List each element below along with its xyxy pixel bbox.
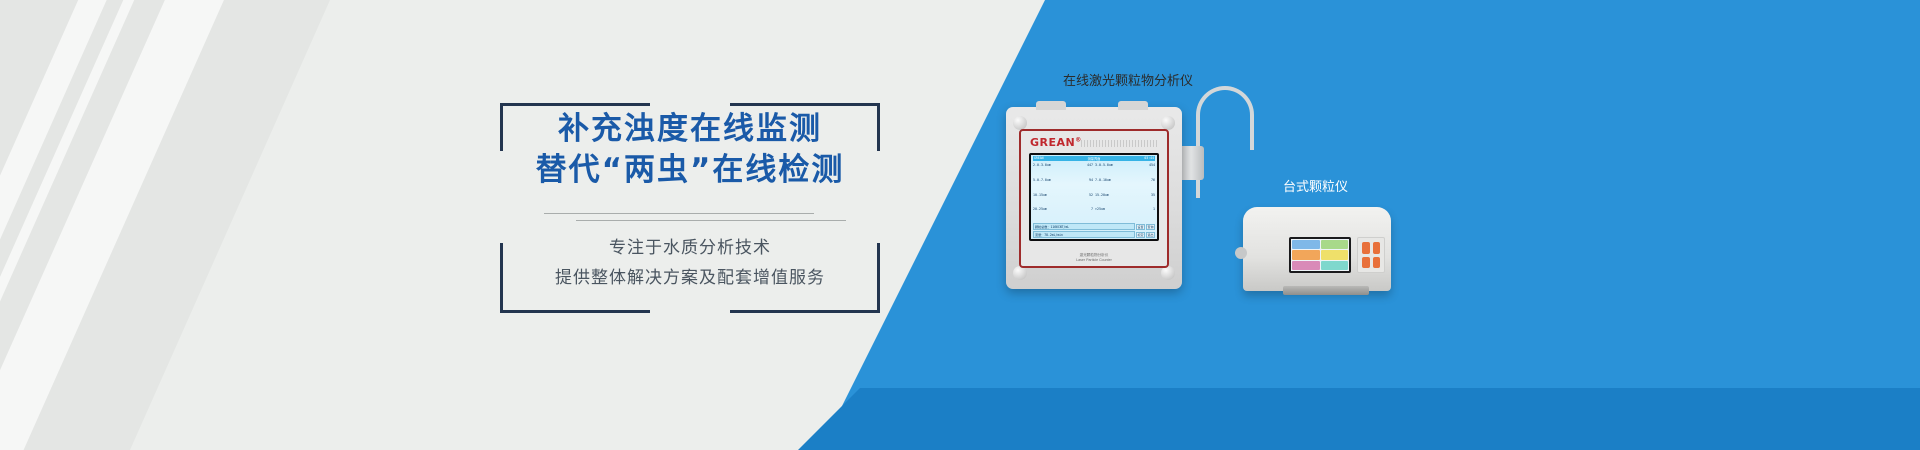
desktop-keypad[interactable] <box>1357 237 1385 273</box>
lcd-status-row-1: 颗粒总数：1166CNT/mL 设置 查询 <box>1033 223 1155 230</box>
table-row: >25um1 <box>1095 207 1155 222</box>
frame-corner-top-left-h <box>500 103 650 106</box>
lcd-status-row-2: 流量：78.2mL/min 标定 退出 <box>1033 231 1155 238</box>
desktop-sample-tray <box>1283 286 1369 295</box>
desktop-unit-body <box>1243 207 1391 291</box>
size-count: 7 <box>1091 207 1093 222</box>
headline-line-1: 补充浊度在线监测 <box>500 109 880 149</box>
benchtop-particle-counter <box>1243 207 1391 291</box>
frame-corner-top-right-h <box>730 103 880 106</box>
size-range: 15-20um <box>1095 193 1109 208</box>
size-range: 7.0-10um <box>1095 178 1111 193</box>
subtitle-line-1: 专注于水质分析技术 <box>500 233 880 263</box>
frame-corner-bottom-right-h <box>730 310 880 313</box>
analyzer-screw-top-right <box>1161 116 1175 130</box>
table-row: 5.0-7.0um94 <box>1033 178 1093 193</box>
hero-subtitle: 专注于水质分析技术 提供整体解决方案及配套增值服务 <box>500 233 880 293</box>
analyzer-screw-top-left <box>1013 116 1027 130</box>
analyzer-footer-text: 激光颗粒物分析仪 Laser Particle Counter <box>1021 253 1167 262</box>
keypad-key-3[interactable] <box>1362 257 1370 269</box>
desktop-display-bezel <box>1289 237 1351 273</box>
online-laser-particle-analyzer: GREAN® GREAN 测量界面 03:44 2.0-3.0um447 3.0… <box>1006 107 1182 289</box>
size-count: 35 <box>1151 193 1155 208</box>
brand-name: GREAN <box>1030 136 1075 149</box>
table-row: 20-25um7 <box>1033 207 1093 222</box>
total-count-field: 颗粒总数：1166CNT/mL <box>1033 223 1135 230</box>
analyzer-top-tab-left <box>1036 101 1066 110</box>
size-count: 94 <box>1089 178 1093 193</box>
size-count: 1 <box>1153 207 1155 222</box>
callout-desktop-label: 台式颗粒仪 <box>1283 176 1348 195</box>
lcd-title-center: 测量界面 <box>1088 156 1101 161</box>
lcd-title-right: 03:44 <box>1144 156 1154 161</box>
keypad-key-2[interactable] <box>1373 242 1381 254</box>
size-count: 447 <box>1087 163 1093 178</box>
desktop-lcd[interactable] <box>1291 239 1349 271</box>
size-range: >25um <box>1095 207 1105 222</box>
hero-banner: 补充浊度在线监测 替代“两虫”在线检测 专注于水质分析技术 提供整体解决方案及配… <box>0 0 1920 450</box>
conduit-tube <box>1196 86 1254 150</box>
keypad-key-1[interactable] <box>1362 242 1370 254</box>
frame-corner-bottom-left-h <box>500 310 650 313</box>
size-count: 76 <box>1151 178 1155 193</box>
analyzer-screw-bottom-left <box>1013 266 1027 280</box>
lcd-tile-3 <box>1292 250 1320 259</box>
lcd-button-query[interactable]: 查询 <box>1146 224 1155 230</box>
lcd-tile-4 <box>1321 250 1349 259</box>
lcd-button-exit[interactable]: 退出 <box>1146 232 1155 238</box>
flow-rate-field: 流量：78.2mL/min <box>1033 231 1135 238</box>
subtitle-line-2: 提供整体解决方案及配套增值服务 <box>500 263 880 293</box>
particle-size-table: 2.0-3.0um447 3.0-5.0um454 5.0-7.0um94 7.… <box>1033 162 1155 222</box>
table-row: 7.0-10um76 <box>1095 178 1155 193</box>
divider-rule-lower <box>576 220 846 221</box>
table-row: 2.0-3.0um447 <box>1033 163 1093 178</box>
lcd-title-bar: GREAN 测量界面 03:44 <box>1033 156 1155 161</box>
table-row: 15-20um35 <box>1095 193 1155 208</box>
size-range: 5.0-7.0um <box>1033 178 1051 193</box>
hero-headline: 补充浊度在线监测 替代“两虫”在线检测 <box>500 109 880 191</box>
lcd-title-left: GREAN <box>1034 156 1044 161</box>
size-range: 3.0-5.0um <box>1095 163 1113 178</box>
analyzer-footer-en: Laser Particle Counter <box>1021 258 1167 262</box>
analyzer-front-panel: GREAN® GREAN 测量界面 03:44 2.0-3.0um447 3.0… <box>1019 129 1169 268</box>
headline-line-2: 替代“两虫”在线检测 <box>500 149 880 191</box>
size-range: 10-15um <box>1033 193 1047 208</box>
callout-analyzer-label: 在线激光颗粒物分析仪 <box>1063 70 1193 89</box>
lcd-button-settings[interactable]: 设置 <box>1136 224 1145 230</box>
lcd-tile-6 <box>1321 261 1349 270</box>
size-range: 2.0-3.0um <box>1033 163 1051 178</box>
size-range: 20-25um <box>1033 207 1047 222</box>
analyzer-top-tab-right <box>1118 101 1148 110</box>
size-count: 52 <box>1089 193 1093 208</box>
hero-text-block: 补充浊度在线监测 替代“两虫”在线检测 专注于水质分析技术 提供整体解决方案及配… <box>500 103 880 313</box>
lcd-button-calibrate[interactable]: 标定 <box>1136 232 1145 238</box>
table-row: 3.0-5.0um454 <box>1095 163 1155 178</box>
size-count: 454 <box>1149 163 1155 178</box>
brand-logo: GREAN® <box>1030 136 1082 149</box>
analyzer-lcd[interactable]: GREAN 测量界面 03:44 2.0-3.0um447 3.0-5.0um4… <box>1031 155 1157 239</box>
analyzer-screw-bottom-right <box>1161 266 1175 280</box>
table-row: 10-15um52 <box>1033 193 1093 208</box>
ventilation-grille <box>1081 140 1159 147</box>
divider-rule-upper <box>544 213 814 214</box>
analyzer-display-bezel: GREAN 测量界面 03:44 2.0-3.0um447 3.0-5.0um4… <box>1029 153 1159 241</box>
lcd-tile-5 <box>1292 261 1320 270</box>
lcd-tile-1 <box>1292 240 1320 249</box>
lcd-tile-2 <box>1321 240 1349 249</box>
desktop-side-fitting <box>1235 247 1247 259</box>
keypad-key-4[interactable] <box>1373 257 1381 269</box>
